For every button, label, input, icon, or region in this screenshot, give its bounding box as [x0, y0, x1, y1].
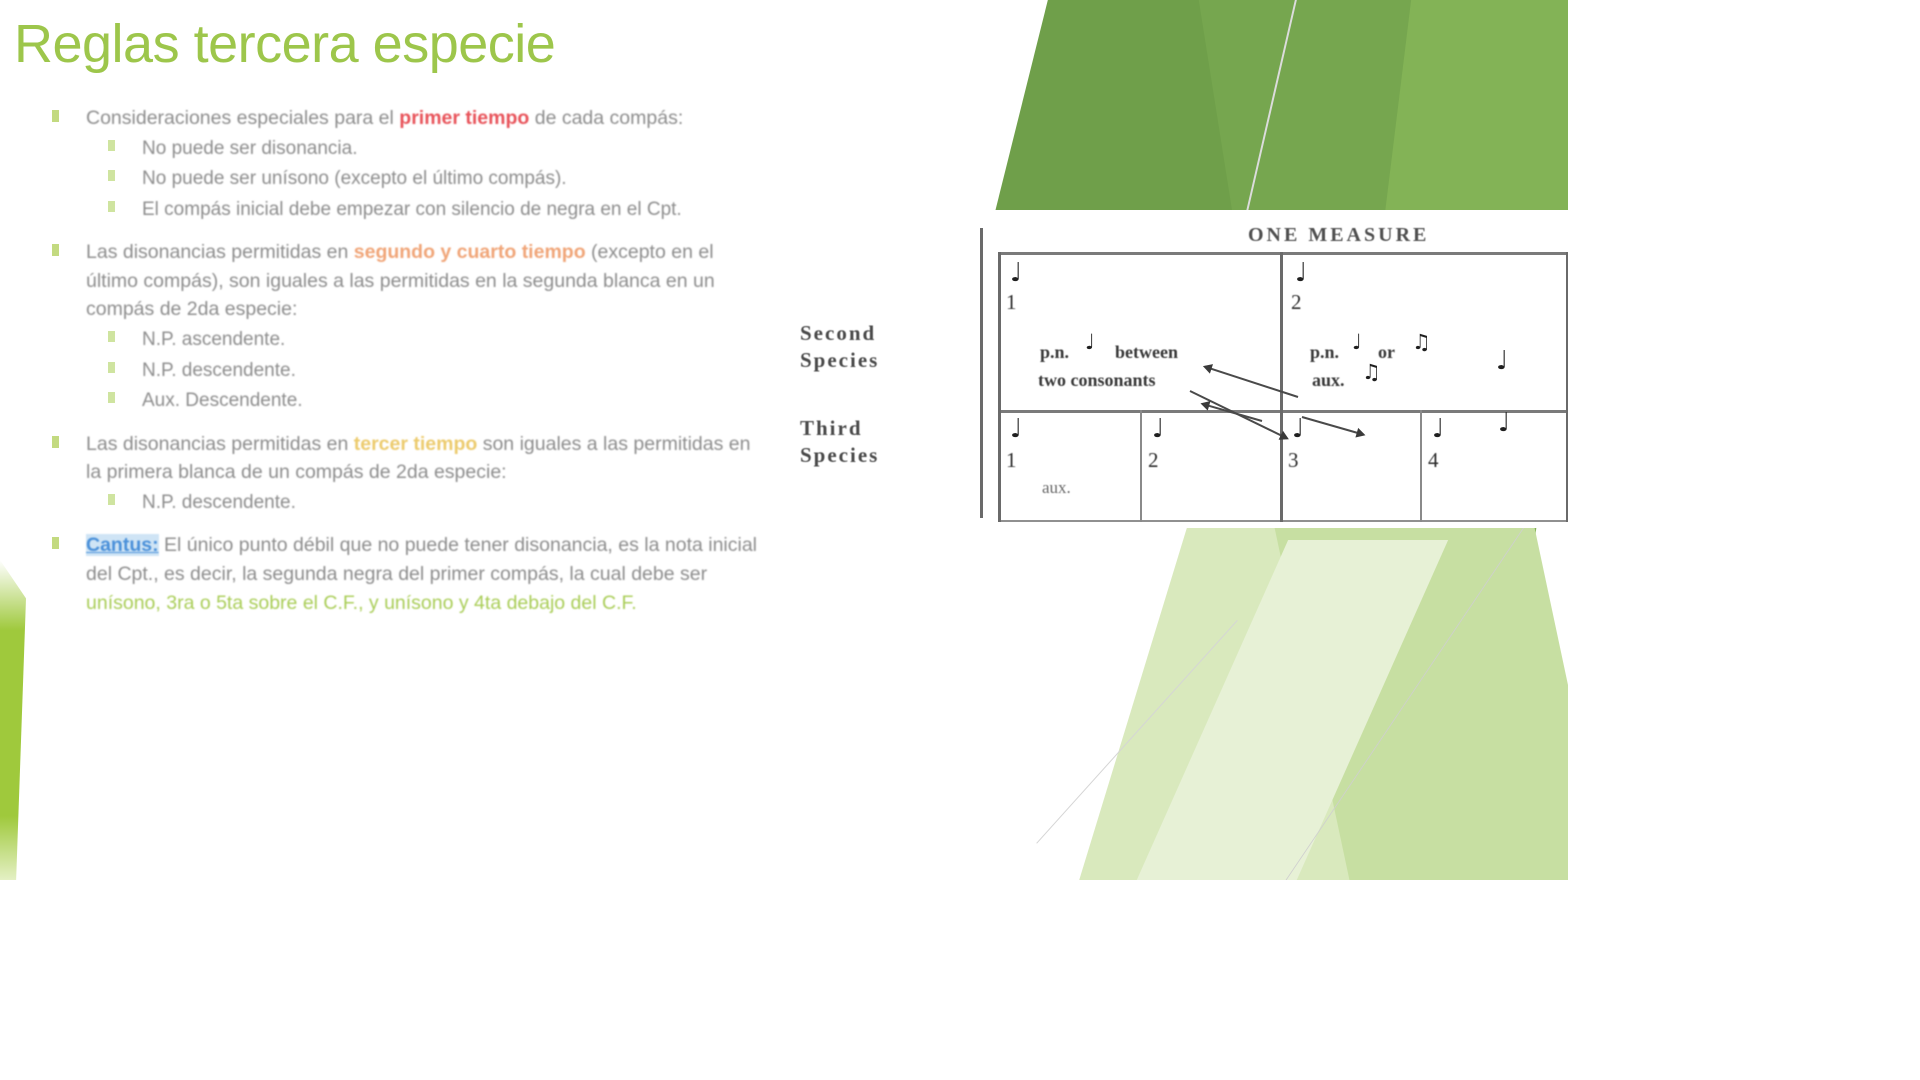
sub-bullet-item: No puede ser disonancia.: [86, 135, 770, 164]
sub-bullet-text: N.P. descendente.: [142, 360, 296, 381]
note-s2-right-1: ♩: [1295, 260, 1307, 286]
text-run-green: unísono, 3ra o 5ta sobre el C.F., y unís…: [86, 592, 637, 614]
sub-bullet-text: N.P. descendente.: [142, 492, 296, 513]
decor-green-shape-2: [1189, 0, 1457, 240]
system-line-top: [998, 252, 1568, 255]
barline-s3-c: [1280, 410, 1283, 522]
system-line-mid: [998, 410, 1568, 413]
sub-bullet-list: N.P. ascendente. N.P. descendente. Aux. …: [86, 326, 770, 416]
arrow-down-left: [1204, 366, 1298, 398]
beat-number-3: 3: [1288, 448, 1299, 473]
decor-green-shape-5: [1262, 470, 1568, 880]
sub-bullet-list: N.P. descendente.: [86, 489, 770, 518]
text-run-plain: Consideraciones especiales para el: [86, 107, 399, 129]
note-s2-left-1: ♩: [1010, 260, 1022, 286]
text-run-bluehl: Cantus:: [86, 534, 159, 556]
bullet-text: Las disonancias permitidas en segundo y …: [86, 241, 715, 320]
text-run-orange: segundo y cuarto tiempo: [354, 241, 586, 263]
arrow-short-right: [1302, 416, 1364, 436]
presentation-slide: Reglas tercera especie Consideraciones e…: [0, 0, 1568, 880]
decor-hairline-2: [1272, 500, 1543, 880]
barline-s2-c: [1566, 252, 1568, 412]
barline-left: [980, 228, 983, 518]
text-run-plain: N.P. ascendente.: [142, 329, 285, 350]
note-s3-2: ♩: [1152, 416, 1164, 442]
bullet-marker: [108, 331, 115, 342]
sub-bullet-item: Aux. Descendente.: [86, 387, 770, 416]
label-third-species: Third Species: [800, 415, 879, 469]
caption-pn-right: p.n.: [1310, 342, 1339, 363]
barline-s3-e: [1566, 410, 1568, 522]
beat-number-1: 1: [1006, 448, 1017, 473]
decor-green-shape-6: [1128, 540, 1448, 880]
caption-aux: aux.: [1312, 370, 1345, 391]
bullet-text: Cantus: El único punto débil que no pued…: [86, 534, 757, 613]
barline-s2-b: [1280, 252, 1283, 412]
sub-bullet-text: No puede ser unísono (excepto el último …: [142, 168, 567, 189]
bullet-item: Consideraciones especiales para el prime…: [30, 104, 770, 224]
text-run-yellow: tercer tiempo: [354, 433, 478, 455]
sub-bullet-list: No puede ser disonancia. No puede ser un…: [86, 135, 770, 225]
note-inline-right-up: ♩: [1352, 332, 1362, 353]
text-run-plain: El único punto débil que no puede tener …: [86, 534, 757, 585]
note-s3-4: ♩: [1432, 416, 1444, 442]
text-run-plain: No puede ser unísono (excepto el último …: [142, 168, 567, 189]
text-run-plain: Las disonancias permitidas en: [86, 241, 354, 263]
text-run-plain: No puede ser disonancia.: [142, 138, 357, 159]
sub-bullet-item: No puede ser unísono (excepto el último …: [86, 165, 770, 194]
bullet-marker: [108, 362, 115, 373]
bullet-marker: [52, 110, 59, 122]
note-inline-right-down: ♫: [1412, 332, 1431, 353]
bullet-item: Las disonancias permitidas en tercer tie…: [30, 430, 770, 518]
note-inline-left: ♩: [1085, 332, 1095, 353]
sub-bullet-item: El compás inicial debe empezar con silen…: [86, 196, 770, 225]
decor-hairline-3: [1036, 620, 1237, 844]
bullet-item: Las disonancias permitidas en segundo y …: [30, 238, 770, 415]
bullet-list: Consideraciones especiales para el prime…: [30, 104, 770, 617]
slide-body: Consideraciones especiales para el prime…: [30, 104, 770, 631]
text-run-plain: Las disonancias permitidas en: [86, 433, 354, 455]
decor-left-green-bar: [0, 560, 26, 880]
sub-bullet-item: N.P. descendente.: [86, 489, 770, 518]
caption-pn-left: p.n.: [1040, 342, 1069, 363]
sub-bullet-item: N.P. descendente.: [86, 357, 770, 386]
sub-bullet-item: N.P. ascendente.: [86, 326, 770, 355]
text-run-plain: N.P. descendente.: [142, 492, 296, 513]
sub-bullet-text: N.P. ascendente.: [142, 329, 285, 350]
slide-title: Reglas tercera especie: [14, 16, 914, 73]
bullet-marker: [52, 244, 59, 256]
note-s3-tail: ♩: [1498, 410, 1510, 436]
barline-s3-b: [1140, 410, 1142, 522]
note-s3-3: ♩: [1292, 416, 1304, 442]
aux-label: aux.: [1042, 478, 1071, 498]
text-run-plain: de cada compás:: [529, 107, 683, 129]
sub-bullet-text: Aux. Descendente.: [142, 390, 303, 411]
bullet-marker: [108, 494, 115, 505]
music-notation-figure: Second Species Third Species ONE MEASURE: [790, 210, 1568, 528]
beat-number-4: 4: [1428, 448, 1439, 473]
bullet-marker: [108, 201, 115, 212]
label-second-species: Second Species: [800, 320, 879, 374]
note-s2-tail: ♩: [1496, 348, 1508, 374]
bullet-marker: [108, 170, 115, 181]
bullet-marker: [52, 537, 59, 549]
sub-bullet-text: El compás inicial debe empezar con silen…: [142, 199, 682, 220]
text-run-plain: El compás inicial debe empezar con silen…: [142, 199, 682, 220]
barline-s3-d: [1420, 410, 1422, 522]
bullet-marker: [52, 436, 59, 448]
sub-bullet-text: No puede ser disonancia.: [142, 138, 357, 159]
caption-two-consonants: two consonants: [1038, 370, 1156, 391]
bullet-marker: [108, 140, 115, 151]
barline-s2-a: [998, 252, 1001, 412]
beat-number-2: 2: [1148, 448, 1159, 473]
staff-grid: ONE MEASURE ♩ 1 p.n. ♩ between two conso…: [980, 220, 1568, 520]
barline-s3-a: [998, 410, 1001, 522]
bullet-marker: [108, 392, 115, 403]
figure-title: ONE MEASURE: [1248, 224, 1429, 247]
text-run-plain: N.P. descendente.: [142, 360, 296, 381]
text-run-plain: Aux. Descendente.: [142, 390, 303, 411]
note-s3-1: ♩: [1010, 416, 1022, 442]
bullet-text: Consideraciones especiales para el prime…: [86, 107, 683, 129]
system-line-bottom: [998, 520, 1568, 522]
text-run-red: primer tiempo: [399, 107, 529, 129]
caption-between: between: [1115, 342, 1178, 363]
beat-number-s2-1: 1: [1006, 290, 1017, 315]
bullet-item: Cantus: El único punto débil que no pued…: [30, 531, 770, 617]
beat-number-s2-2: 2: [1291, 290, 1302, 315]
note-aux: ♫: [1362, 362, 1381, 383]
bullet-text: Las disonancias permitidas en tercer tie…: [86, 433, 750, 484]
